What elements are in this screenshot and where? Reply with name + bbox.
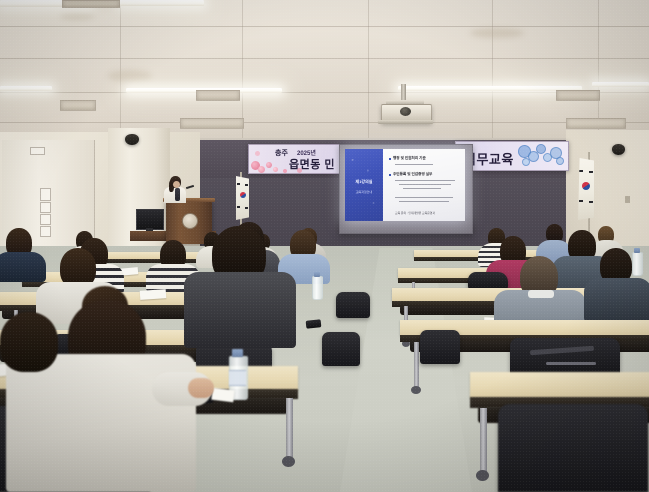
slide-panel-subtitle: 교육과정안내 [347, 190, 381, 194]
wall-sign [40, 226, 51, 237]
slide-panel-decoration [345, 149, 383, 221]
attendee-body [0, 252, 46, 282]
slide-section-heading: 행정 및 민원처리 기준 [393, 156, 426, 161]
wall-sign [40, 202, 51, 213]
lecture-hall-photo: 충주 2025년 읍면동 민 직무교육 제1강의실 교육과정안내 행정 및 민원… [0, 0, 649, 492]
korean-flag [578, 158, 594, 220]
projector-base [378, 120, 433, 124]
slide-content: 제1강의실 교육과정안내 행정 및 민원처리 기준 주민등록 및 인감증명 실무… [345, 149, 465, 221]
desk [470, 372, 649, 398]
wall-speaker [125, 134, 139, 145]
ceiling-vent [196, 90, 240, 101]
ceiling-vent [180, 118, 244, 129]
water-bottle [312, 276, 323, 300]
wall-speaker [612, 144, 625, 155]
paper-handout [140, 289, 167, 300]
paper-handout [211, 388, 234, 403]
smartphone[interactable] [306, 319, 322, 329]
presenter-scarf [175, 188, 180, 201]
chair [420, 330, 460, 364]
banner-left-title: 읍면동 민 [289, 156, 335, 172]
ceiling-light [398, 86, 582, 91]
attendee-body [184, 272, 296, 348]
bottle-cap [314, 272, 320, 277]
ceiling [0, 0, 649, 150]
presenter-monitor [136, 209, 164, 230]
slide-section-heading: 주민등록 및 인감증명 실무 [393, 172, 432, 177]
ceiling-light [0, 86, 52, 91]
ceiling-light [118, 0, 204, 6]
backpack-zipper [546, 362, 596, 365]
wall-outlet [625, 196, 630, 203]
chair [498, 404, 648, 492]
lectern-emblem-icon [182, 213, 198, 229]
attendee-head [0, 312, 58, 372]
korean-flag [236, 176, 249, 220]
wall-notice [30, 147, 45, 155]
attendee-body [584, 278, 649, 322]
presenter-face [173, 181, 180, 188]
ceiling-vent [62, 0, 120, 8]
chair [336, 292, 370, 318]
ceiling-vent [566, 118, 626, 129]
bottle-cap [634, 248, 640, 253]
water-bottle [632, 252, 643, 276]
ceiling-light [592, 82, 649, 87]
projector-lens-icon [400, 107, 411, 116]
ceiling-vent [60, 100, 96, 111]
bottle-cap [232, 349, 243, 357]
shirt-collar [528, 290, 554, 298]
banner-left-logo: 충주 [275, 148, 288, 158]
slide-panel-title: 제1강의실 [347, 179, 381, 185]
bottle-label [229, 370, 246, 386]
wall-sign [40, 188, 51, 201]
wall-sign [40, 214, 51, 225]
ceiling-vent [556, 90, 600, 101]
chair [322, 332, 360, 366]
attendee-hand [188, 378, 214, 398]
slide-footer-note: 교육 문의 : 인재개발원 교육운영과 [395, 211, 435, 215]
